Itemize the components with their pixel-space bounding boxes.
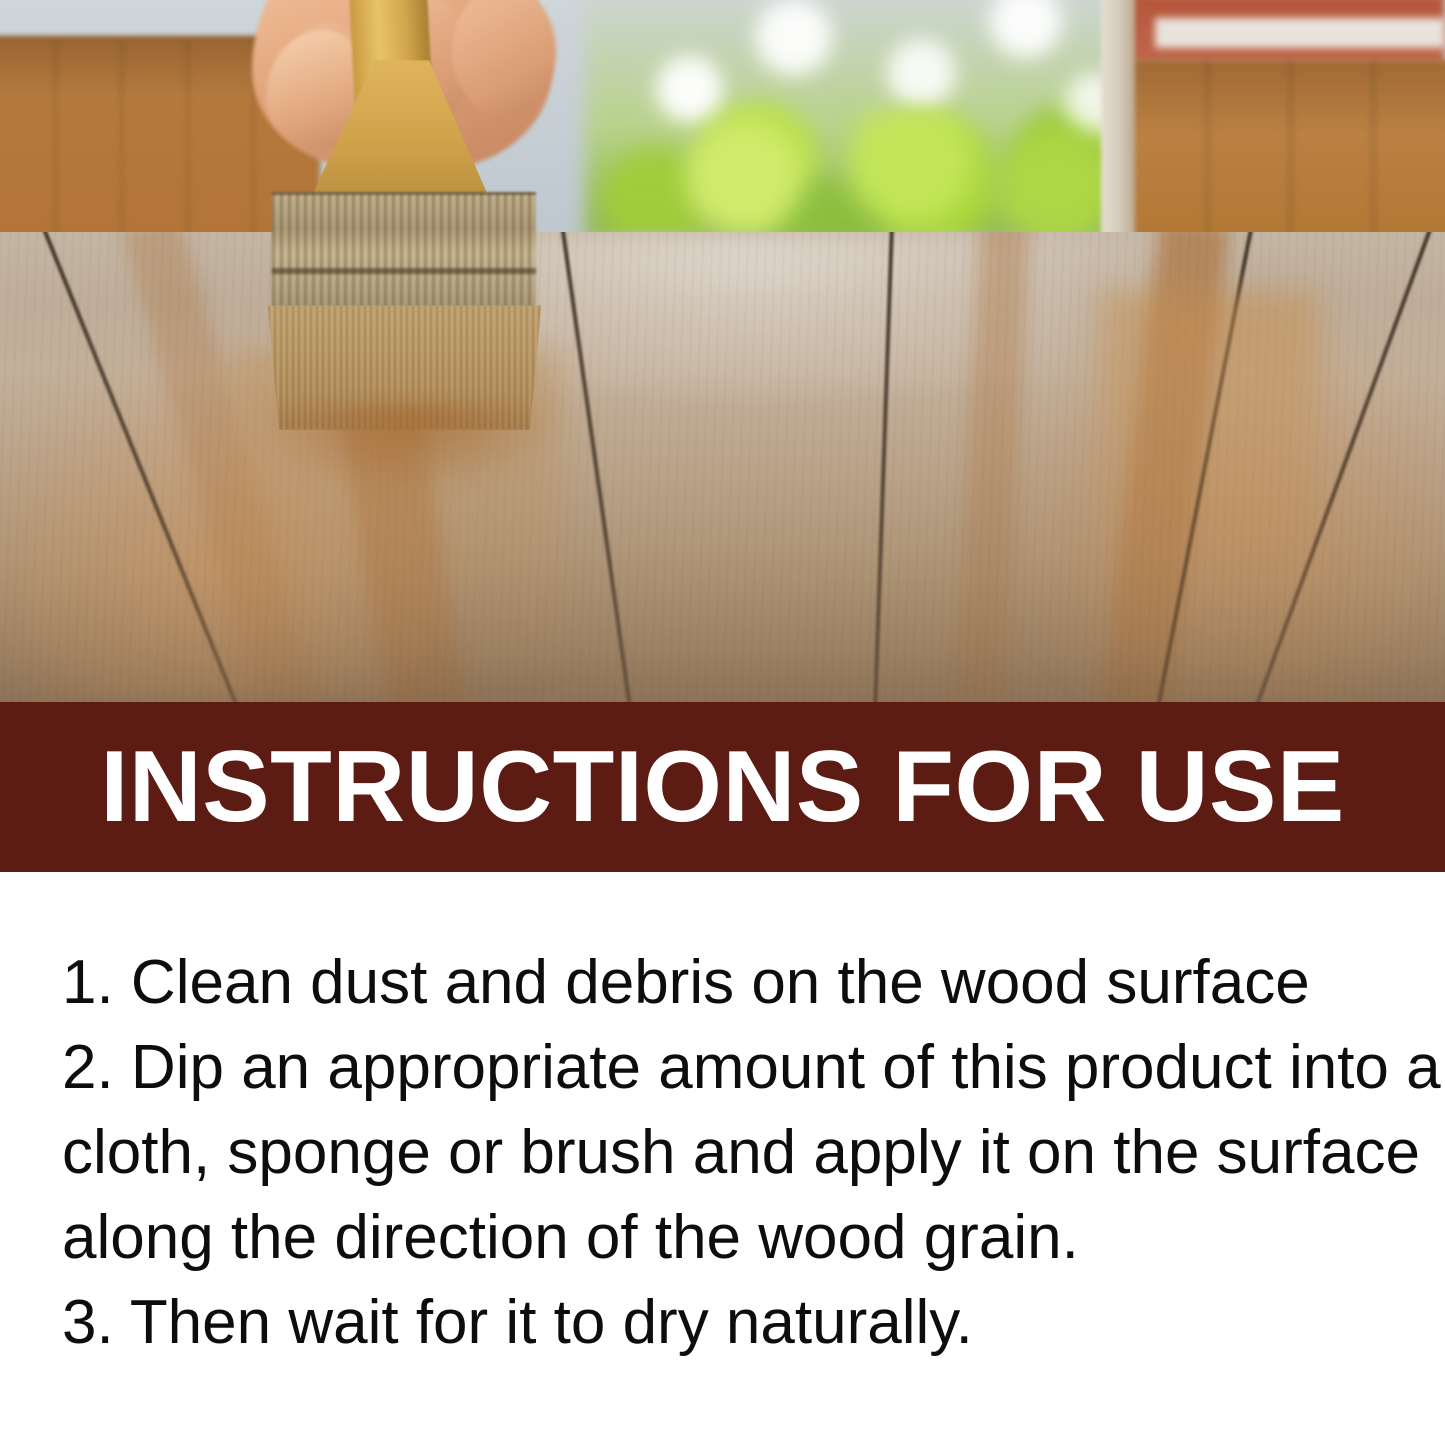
instruction-line: 3. Then wait for it to dry naturally. <box>62 1280 1385 1365</box>
instructions-banner: INSTRUCTIONS FOR USE <box>0 702 1445 872</box>
window-sill <box>1155 18 1445 48</box>
wet-stain-pool <box>258 404 558 494</box>
product-instruction-card: INSTRUCTIONS FOR USE 1. Clean dust and d… <box>0 0 1445 1445</box>
instruction-line: 1. Clean dust and debris on the wood sur… <box>62 940 1385 1025</box>
brush-ferrule <box>272 192 536 318</box>
deck-surface <box>0 232 1445 703</box>
instruction-line: cloth, sponge or brush and apply it on t… <box>62 1110 1385 1195</box>
instructions-body: 1. Clean dust and debris on the wood sur… <box>0 872 1445 1445</box>
instruction-line: 2. Dip an appropriate amount of this pro… <box>62 1025 1385 1110</box>
brush-ferrule-band <box>272 268 536 274</box>
deck-reflection-right <box>1100 292 1320 672</box>
instruction-line: along the direction of the wood grain. <box>62 1195 1385 1280</box>
hero-photo <box>0 0 1445 703</box>
page-title: INSTRUCTIONS FOR USE <box>100 737 1345 838</box>
